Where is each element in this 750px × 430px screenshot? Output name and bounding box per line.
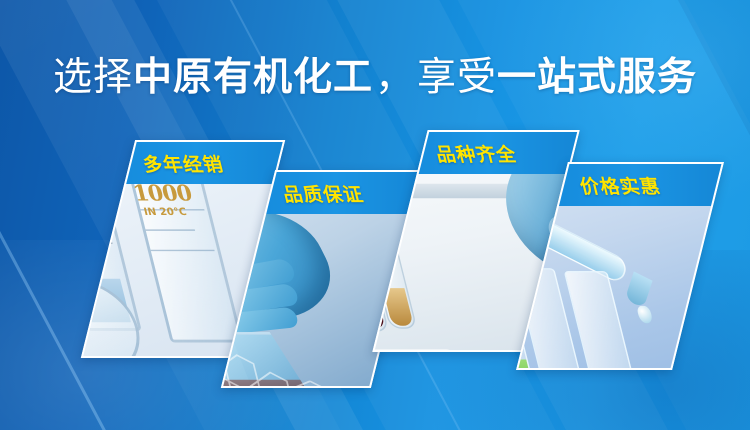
molecule-diagram	[221, 352, 378, 386]
headline-comma: ，	[373, 55, 417, 100]
panel-label-years-distribution: 多年经销	[140, 150, 227, 177]
tube-liquid-green-2	[516, 360, 537, 369]
glassware-mark-b: B	[88, 232, 105, 251]
panel-label-quality-guarantee: 品质保证	[280, 180, 367, 207]
panel-label-full-variety: 品种齐全	[433, 140, 520, 167]
glassware-sub-in20c: IN 20°C	[143, 206, 188, 218]
tube-rack	[372, 349, 460, 350]
promo-banner: 选择中原有机化工，享受一站式服务	[0, 0, 750, 430]
panel-label-wrap: 品种齐全	[372, 132, 579, 174]
panel-label-fair-price: 价格实惠	[577, 172, 664, 199]
glassware-mark-25: 25	[81, 212, 98, 234]
glassware-mark-in20c: IN 20°C	[81, 235, 114, 247]
headline-plain-2: 享受	[417, 55, 497, 100]
glassware-volume-1000: 1000	[131, 184, 195, 206]
headline-plain-1: 选择	[53, 55, 133, 100]
flask-neck	[81, 224, 92, 302]
pipette-tip	[624, 271, 652, 308]
panel-label-wrap: 多年经销	[81, 142, 285, 184]
liquid-drop	[636, 306, 653, 323]
headline-accent: 一站式服务	[497, 55, 697, 100]
tube-liquid-amber	[383, 288, 414, 326]
headline-brand: 中原有机化工	[133, 55, 373, 100]
headline: 选择中原有机化工，享受一站式服务	[0, 58, 750, 97]
